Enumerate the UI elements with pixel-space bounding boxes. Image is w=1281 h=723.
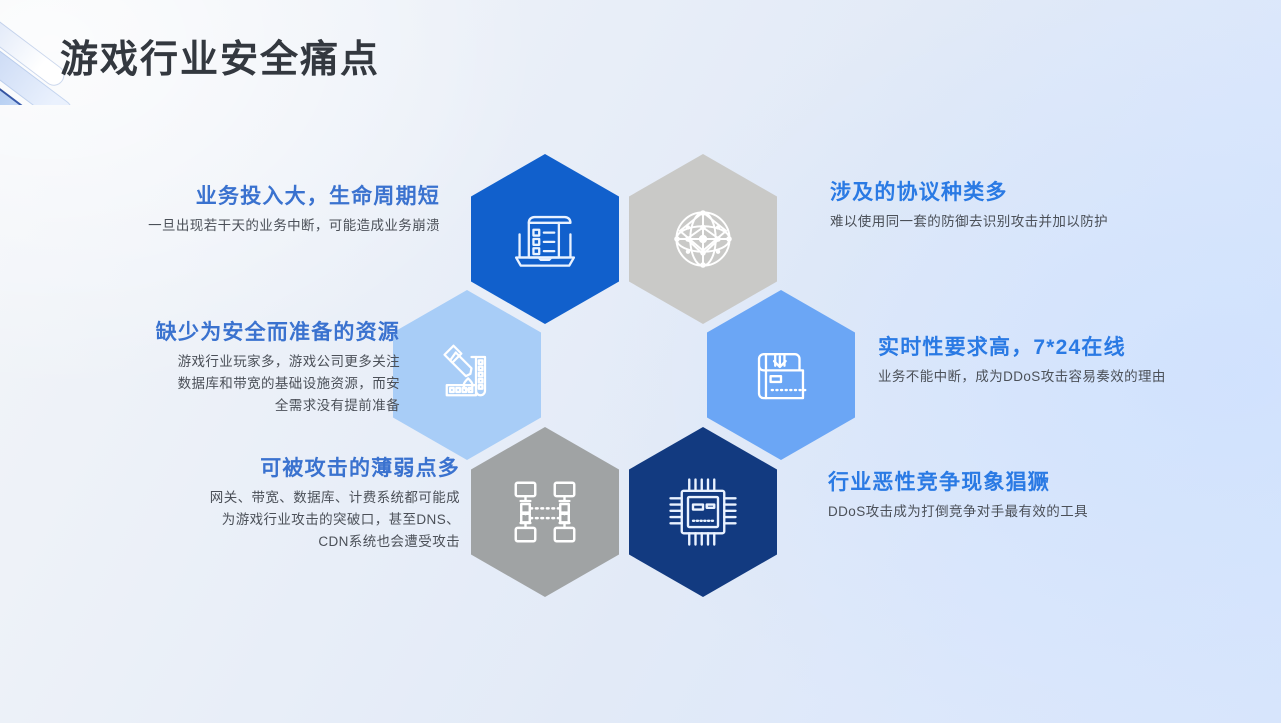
- point-right-1-body: 难以使用同一套的防御去识别攻击并加以防护: [830, 211, 1250, 233]
- hex-globe-network[interactable]: [629, 154, 777, 324]
- point-left-1-body: 一旦出现若干天的业务中断，可能造成业务崩溃: [40, 215, 440, 237]
- cpu-chip-icon: [663, 472, 743, 552]
- hex-document-laptop[interactable]: [471, 154, 619, 324]
- page-title: 游戏行业安全痛点: [60, 28, 380, 83]
- hex-color-picker[interactable]: [393, 290, 541, 460]
- slide-canvas: 游戏行业安全痛点: [0, 0, 1281, 723]
- wallet-download-icon: [744, 338, 818, 412]
- monitor-network-icon: [506, 473, 584, 551]
- point-left-1-title: 业务投入大，生命周期短: [40, 184, 440, 210]
- point-right-1: 涉及的协议种类多 难以使用同一套的防御去识别攻击并加以防护: [830, 180, 1250, 233]
- point-right-2: 实时性要求高，7*24在线 业务不能中断，成为DDoS攻击容易奏效的理由: [878, 335, 1278, 388]
- point-right-3-title: 行业恶性竞争现象猖獗: [828, 470, 1248, 496]
- point-left-3-body: 网关、带宽、数据库、计费系统都可能成 为游戏行业攻击的突破口，甚至DNS、 CD…: [70, 487, 460, 553]
- document-laptop-icon: [508, 202, 582, 276]
- globe-network-icon: [666, 202, 740, 276]
- hex-wallet-download[interactable]: [707, 290, 855, 460]
- point-left-1: 业务投入大，生命周期短 一旦出现若干天的业务中断，可能造成业务崩溃: [40, 184, 440, 237]
- color-picker-icon: [431, 339, 503, 411]
- point-right-2-title: 实时性要求高，7*24在线: [878, 335, 1278, 361]
- point-right-1-title: 涉及的协议种类多: [830, 180, 1250, 206]
- point-left-2: 缺少为安全而准备的资源 游戏行业玩家多，游戏公司更多关注 数据库和带宽的基础设施…: [20, 320, 400, 417]
- hex-cpu-chip[interactable]: [629, 427, 777, 597]
- point-right-3-body: DDoS攻击成为打倒竞争对手最有效的工具: [828, 501, 1248, 523]
- point-right-2-body: 业务不能中断，成为DDoS攻击容易奏效的理由: [878, 366, 1278, 388]
- slide-header: 游戏行业安全痛点: [0, 0, 1281, 98]
- point-left-3-title: 可被攻击的薄弱点多: [70, 456, 460, 482]
- point-left-2-title: 缺少为安全而准备的资源: [20, 320, 400, 346]
- point-left-2-body: 游戏行业玩家多，游戏公司更多关注 数据库和带宽的基础设施资源，而安 全需求没有提…: [20, 351, 400, 417]
- point-right-3: 行业恶性竞争现象猖獗 DDoS攻击成为打倒竞争对手最有效的工具: [828, 470, 1248, 523]
- point-left-3: 可被攻击的薄弱点多 网关、带宽、数据库、计费系统都可能成 为游戏行业攻击的突破口…: [70, 456, 460, 553]
- hex-monitor-network[interactable]: [471, 427, 619, 597]
